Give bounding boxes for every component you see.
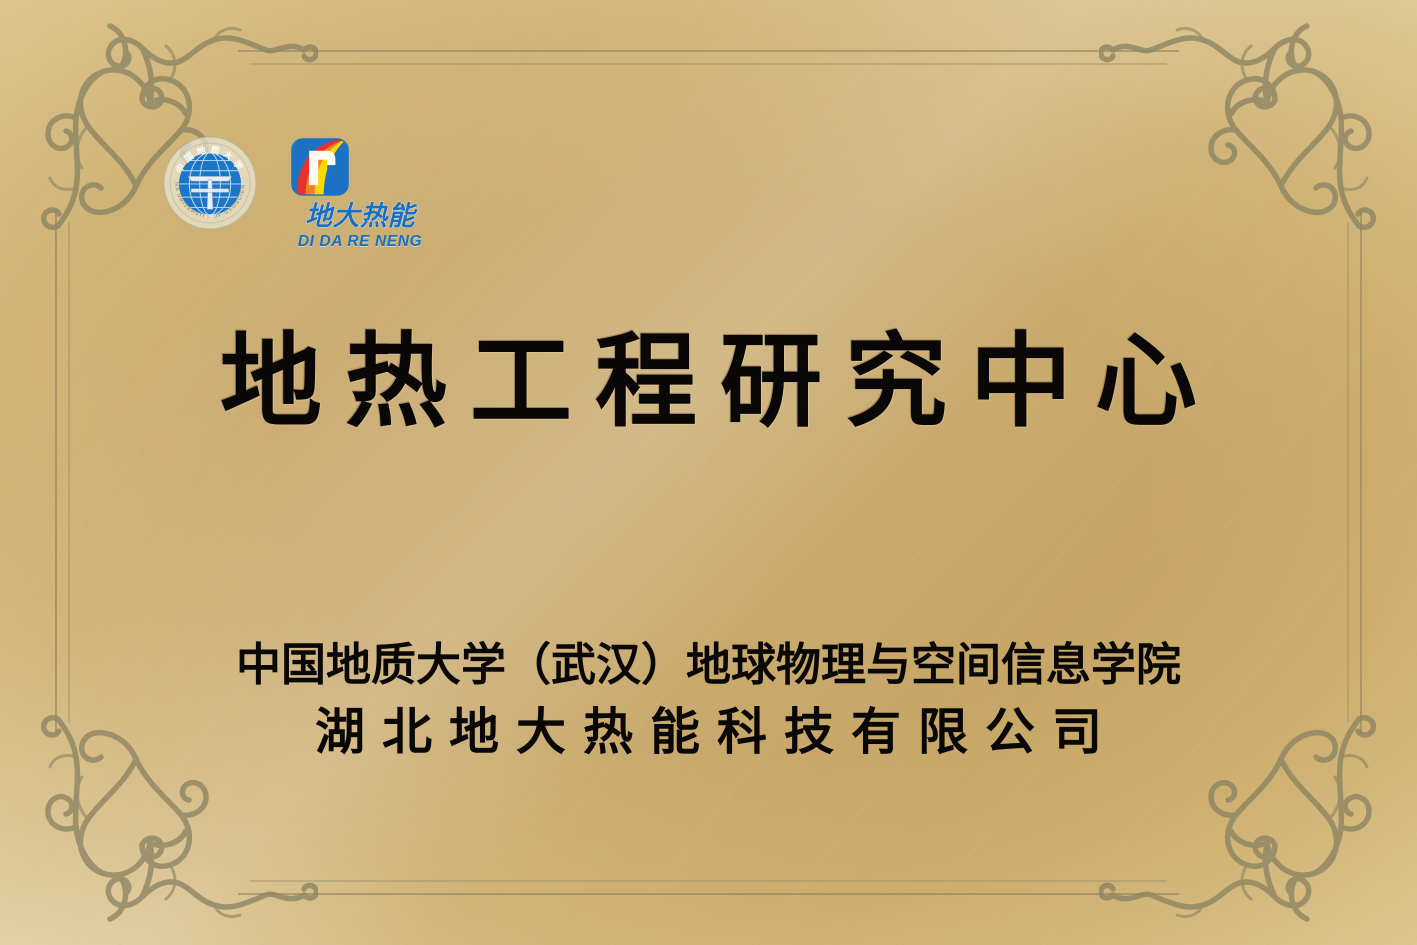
cug-seal-icon: 中国地质大学 CHINA UNIVERSITY OF GEOSCIENCES 1… [163, 136, 257, 230]
affiliation-university: 中国地质大学（武汉）地球物理与空间信息学院 [0, 636, 1417, 694]
frame-line-top-outer [238, 50, 1179, 52]
affiliation-company: 湖北地大热能科技有限公司 [0, 700, 1417, 765]
frame-line-bottom-inner [250, 880, 1167, 882]
award-plaque: 中国地质大学 CHINA UNIVERSITY OF GEOSCIENCES 1… [0, 0, 1417, 945]
corner-ornament-top-right [1099, 10, 1399, 242]
didareneng-chinese-wordmark: 地大热能 [286, 198, 434, 232]
page-title: 地热工程研究中心 [0, 330, 1417, 434]
affiliation-block: 中国地质大学（武汉）地球物理与空间信息学院 湖北地大热能科技有限公司 [0, 636, 1417, 765]
didareneng-logo: 地大热能 DI DA RE NENG [285, 138, 435, 251]
didareneng-mark-icon [291, 138, 349, 196]
frame-line-bottom-outer [238, 893, 1179, 895]
didareneng-pinyin: DI DA RE NENG [298, 233, 422, 251]
frame-line-top-inner [250, 63, 1167, 65]
svg-text:地大热能: 地大热能 [305, 201, 418, 232]
logo-group: 中国地质大学 CHINA UNIVERSITY OF GEOSCIENCES 1… [163, 136, 435, 251]
svg-text:1952: 1952 [205, 213, 216, 219]
